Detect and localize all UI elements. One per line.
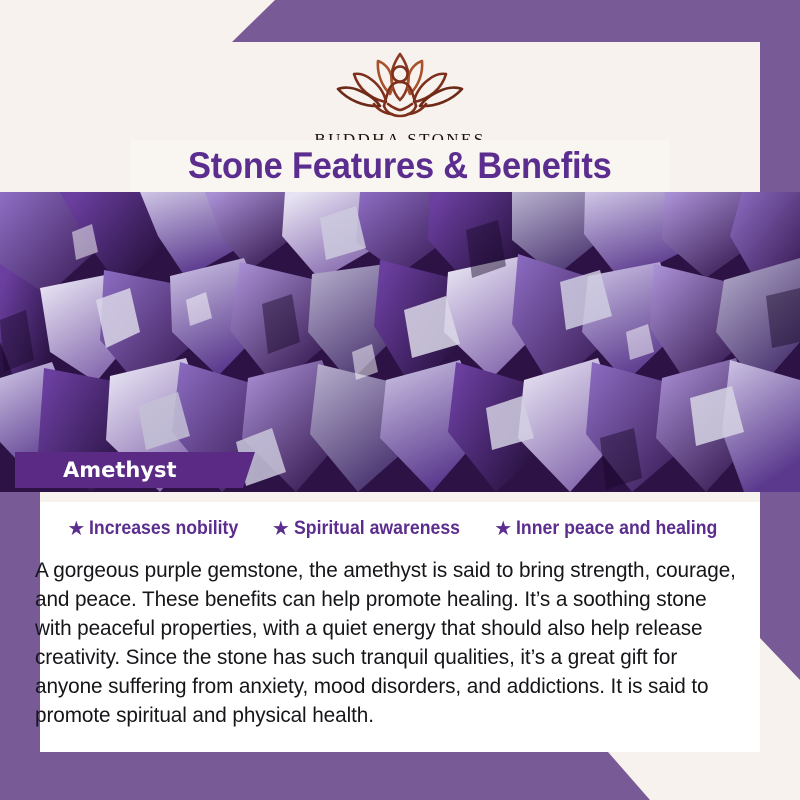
content-panel-top-strip: [40, 492, 760, 502]
frame-bottom-wedge: [560, 744, 680, 800]
poster-root: BUDDHA STONES Stone Features & Benefits: [0, 0, 800, 800]
star-icon: ★: [272, 519, 290, 539]
stone-name-label: Amethyst: [63, 458, 177, 482]
feature-item-1: ★ Spiritual awareness: [272, 518, 472, 540]
star-icon: ★: [494, 519, 512, 539]
hero-image: [0, 192, 800, 492]
stone-description: A gorgeous purple gemstone, the amethyst…: [35, 556, 739, 730]
feature-item-0: ★ Increases nobility: [67, 518, 249, 540]
title-band: Stone Features & Benefits: [130, 140, 670, 192]
frame-bottom-bar: [0, 752, 800, 800]
amethyst-crystal-cluster-photo: [0, 192, 800, 492]
feature-label-0: Increases nobility: [89, 518, 238, 540]
page-title: Stone Features & Benefits: [188, 145, 612, 187]
lotus-meditation-figure-icon: [320, 44, 480, 128]
brand-logo: BUDDHA STONES: [314, 44, 485, 150]
feature-item-2: ★ Inner peace and healing: [494, 518, 732, 540]
feature-label-2: Inner peace and healing: [516, 518, 717, 540]
feature-label-1: Spiritual awareness: [294, 518, 460, 540]
stone-name-ribbon: Amethyst: [15, 452, 255, 488]
frame-top-bar: [0, 0, 800, 42]
star-icon: ★: [67, 519, 85, 539]
features-row: ★ Increases nobility ★ Spiritual awarene…: [40, 518, 760, 540]
